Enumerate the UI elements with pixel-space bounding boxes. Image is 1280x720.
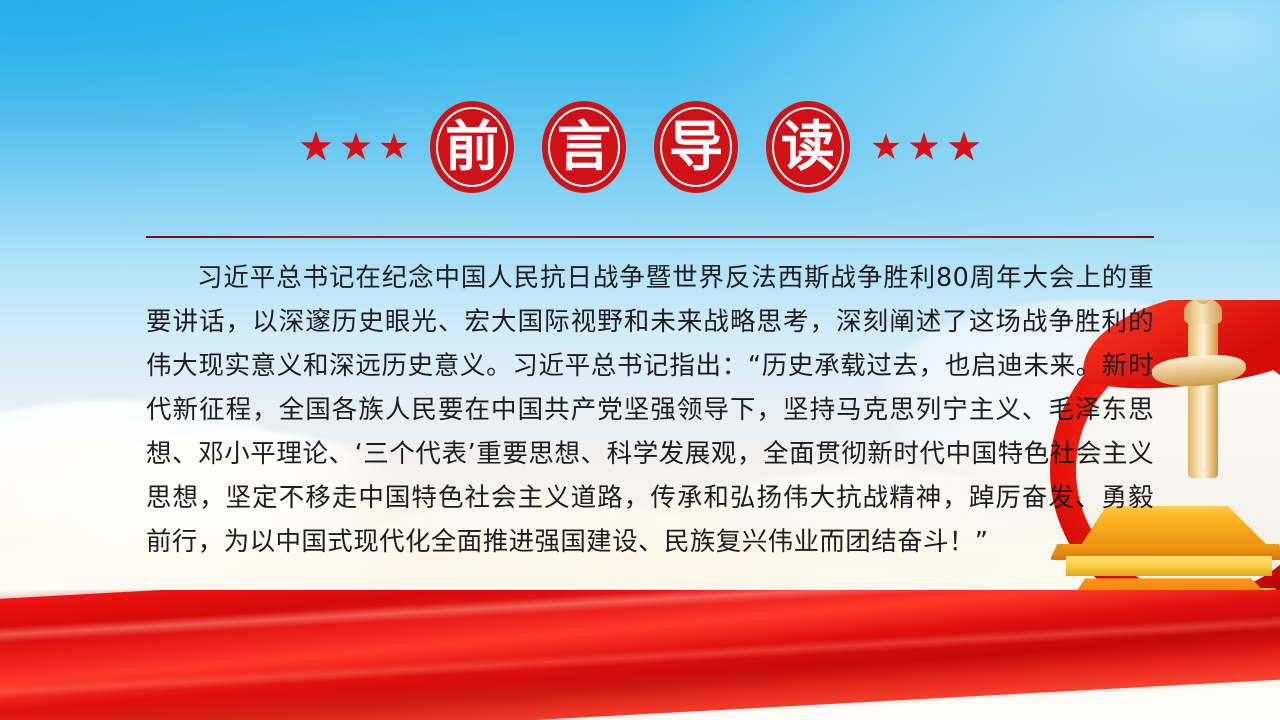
star-icon	[948, 131, 980, 163]
slide-title-header: 前 言 导 读	[0, 92, 1280, 202]
red-bottom-ribbon	[0, 590, 1280, 720]
left-star-group	[300, 131, 408, 163]
seal-character: 读	[781, 120, 835, 174]
seal-character: 言	[557, 120, 611, 174]
title-divider-line	[146, 236, 1154, 238]
title-seal-2: 言	[534, 92, 634, 202]
title-seal-4: 读	[758, 92, 858, 202]
seal-character: 前	[445, 120, 499, 174]
title-seal-1: 前	[422, 92, 522, 202]
star-icon	[380, 133, 408, 161]
star-icon	[909, 132, 939, 162]
presentation-slide: 前 言 导 读	[0, 0, 1280, 720]
ribbon-band	[0, 590, 1280, 720]
title-seal-group: 前 言 导 读	[422, 92, 858, 202]
right-star-group	[872, 131, 980, 163]
star-icon	[300, 131, 332, 163]
title-seal-3: 导	[646, 92, 746, 202]
body-paragraph: 习近平总书记在纪念中国人民抗日战争暨世界反法西斯战争胜利80周年大会上的重要讲话…	[146, 256, 1154, 564]
star-icon	[872, 133, 900, 161]
huabiao-column-icon	[1188, 308, 1218, 478]
body-text-block: 习近平总书记在纪念中国人民抗日战争暨世界反法西斯战争胜利80周年大会上的重要讲话…	[146, 256, 1154, 564]
star-icon	[341, 132, 371, 162]
seal-character: 导	[669, 120, 723, 174]
